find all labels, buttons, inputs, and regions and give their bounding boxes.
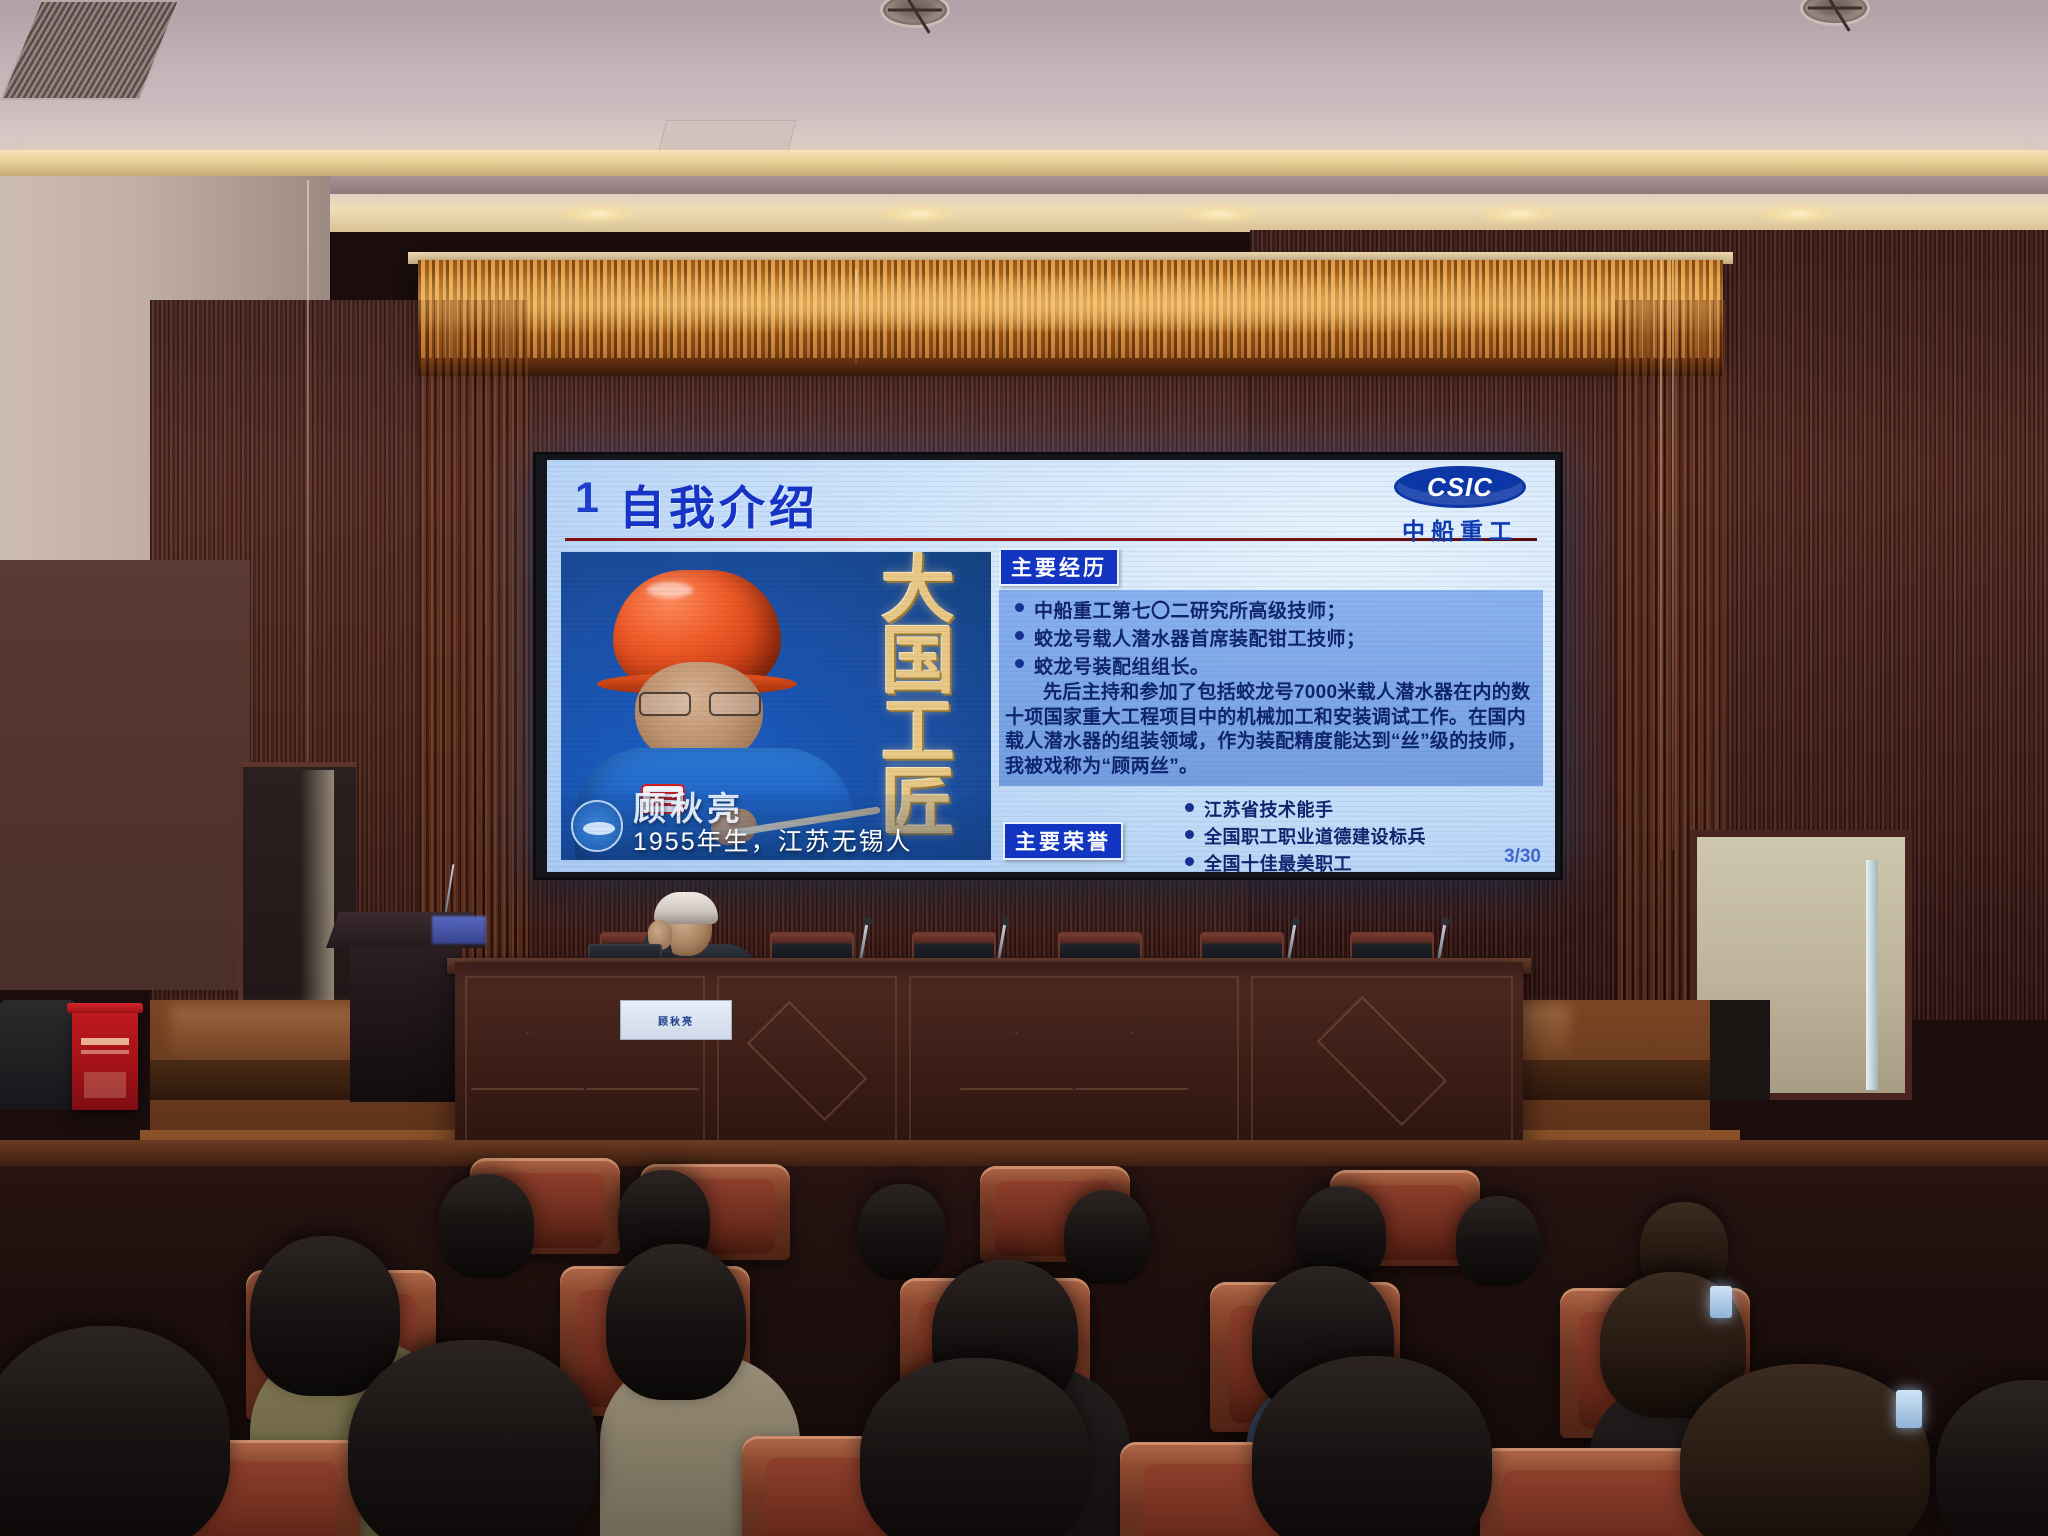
list-item: 蛟龙号载人潜水器首席装配钳工技师； — [1005, 624, 1537, 651]
csic-oval-mark: CSIC — [1394, 466, 1526, 508]
audience-head — [1456, 1196, 1540, 1286]
table-zigzag-motif — [959, 1032, 1189, 1090]
audience-head — [860, 1358, 1090, 1536]
left-wall-lower — [0, 560, 250, 990]
nameplate-text: 顾秋亮 — [658, 1013, 694, 1028]
slide-title: 自我介绍 — [619, 472, 819, 538]
conference-table-front — [455, 962, 1523, 1162]
honor-item-text: 全国十佳最美职工 — [1204, 850, 1352, 872]
glass-door-leaf — [1866, 860, 1878, 1090]
curtain-leg-left — [418, 300, 528, 1000]
table-zigzag-motif — [470, 1032, 700, 1090]
lectern-screen-glow — [432, 916, 486, 944]
phone-screen-glow — [1896, 1390, 1922, 1428]
slide-text-column: 主要经历 中船重工第七〇二研究所高级技师； 蛟龙号载人潜水器首席装配钳工技师； … — [999, 548, 1543, 872]
experience-block: 中船重工第七〇二研究所高级技师； 蛟龙号载人潜水器首席装配钳工技师； 蛟龙号装配… — [999, 590, 1543, 786]
bullet-dot-icon — [1015, 659, 1024, 668]
stage-curtain-valance — [418, 260, 1723, 365]
honor-item-text: 江苏省技术能手 — [1204, 796, 1334, 822]
table-panel — [909, 976, 1239, 1146]
list-item: 中船重工第七〇二研究所高级技师； — [1005, 596, 1537, 623]
helmet-highlight — [647, 582, 693, 598]
front-rail — [0, 1140, 2048, 1166]
bullet-dot-icon — [1015, 631, 1024, 640]
side-chair — [0, 1000, 76, 1110]
audience-head — [858, 1184, 946, 1280]
eyeglasses-icon — [639, 692, 761, 712]
csic-company-name-cn: 中船重工 — [1387, 512, 1533, 546]
bullet-dot-icon — [1185, 803, 1194, 812]
lectern-body — [350, 946, 462, 1102]
photo-caption-band: CSIC 顾秋亮 1955年生，江苏无锡人 — [561, 794, 991, 860]
audience-head — [0, 1326, 230, 1536]
honors-heading: 主要荣誉 — [1003, 822, 1123, 860]
valance-shadow-edge — [418, 358, 1723, 376]
audience-head — [1252, 1356, 1492, 1536]
downlight-icon — [1480, 206, 1558, 222]
list-item: 蛟龙号装配组组长。 — [1005, 652, 1537, 679]
lectern — [340, 912, 470, 1102]
presentation-slide: 1 自我介绍 CSIC 中船重工 大国工匠 CSIC 顾秋亮 1955年生，江苏… — [547, 460, 1555, 872]
slide-section-number: 1 — [575, 474, 598, 523]
audience-head — [1680, 1364, 1930, 1536]
phone-screen-glow — [1710, 1286, 1732, 1318]
table-diamond-motif — [747, 1001, 867, 1121]
cove-light-upper — [0, 150, 2048, 176]
photo-person-subtitle: 1955年生，江苏无锡人 — [633, 822, 913, 858]
list-item: 全国职工职业道德建设标兵 — [1175, 823, 1543, 849]
experience-heading: 主要经历 — [999, 548, 1119, 586]
experience-paragraph: 先后主持和参加了包括蛟龙号7000米载人潜水器在内的数十项国家重大工程项目中的机… — [1005, 681, 1537, 780]
honors-list: 江苏省技术能手 全国职工职业道德建设标兵 全国十佳最美职工 全国五一劳动奖章 — [1175, 796, 1543, 872]
audience-head — [1936, 1380, 2048, 1536]
csic-logo: CSIC 中船重工 — [1387, 466, 1533, 546]
cabinet-panel — [84, 1072, 126, 1098]
csic-seal-icon: CSIC — [571, 800, 623, 852]
downlight-icon — [560, 206, 638, 222]
lecture-hall-photo: 1 自我介绍 CSIC 中船重工 大国工匠 CSIC 顾秋亮 1955年生，江苏… — [0, 0, 2048, 1536]
list-item: 江苏省技术能手 — [1175, 796, 1543, 822]
speaker-photo: 大国工匠 CSIC 顾秋亮 1955年生，江苏无锡人 — [561, 552, 991, 860]
cabinet-label — [81, 1038, 129, 1045]
experience-bullet-text: 中船重工第七〇二研究所高级技师； — [1034, 596, 1346, 623]
slide-page-indicator: 3/30 — [1504, 846, 1541, 868]
table-panel — [717, 976, 897, 1146]
audience-seat — [1480, 1448, 1710, 1536]
bullet-dot-icon — [1185, 857, 1194, 866]
hanging-cable — [855, 270, 857, 365]
cabinet-sublabel — [81, 1050, 129, 1054]
honors-section: 主要荣誉 目前工作 江苏省技术能手 全国职工职业道德建设标兵 全国十佳最美职工 — [999, 796, 1543, 872]
downlight-icon — [1180, 206, 1258, 222]
audience-head — [438, 1174, 534, 1278]
downlight-icon — [1760, 206, 1838, 222]
downlight-icon — [880, 206, 958, 222]
fire-equipment-cabinet — [72, 1010, 138, 1110]
audience-area — [0, 1140, 2048, 1536]
table-panel — [1251, 976, 1513, 1146]
hanging-cable — [1672, 260, 1674, 850]
bullet-dot-icon — [1015, 603, 1024, 612]
audience-head — [250, 1236, 400, 1396]
speaker-hair — [654, 892, 718, 924]
honor-item-text: 全国职工职业道德建设标兵 — [1204, 823, 1426, 849]
table-diamond-motif — [1317, 996, 1447, 1126]
bullet-dot-icon — [1185, 830, 1194, 839]
ceiling-slab — [0, 0, 2048, 120]
audience-head — [348, 1340, 598, 1536]
hanging-cable — [1660, 260, 1662, 860]
list-item: 全国十佳最美职工 — [1175, 850, 1543, 872]
audience-head — [1064, 1190, 1150, 1284]
experience-bullet-text: 蛟龙号载人潜水器首席装配钳工技师； — [1034, 624, 1366, 651]
speaker-nameplate: 顾秋亮 — [620, 1000, 732, 1040]
audience-head — [606, 1244, 746, 1400]
experience-bullet-text: 蛟龙号装配组组长。 — [1034, 652, 1210, 679]
